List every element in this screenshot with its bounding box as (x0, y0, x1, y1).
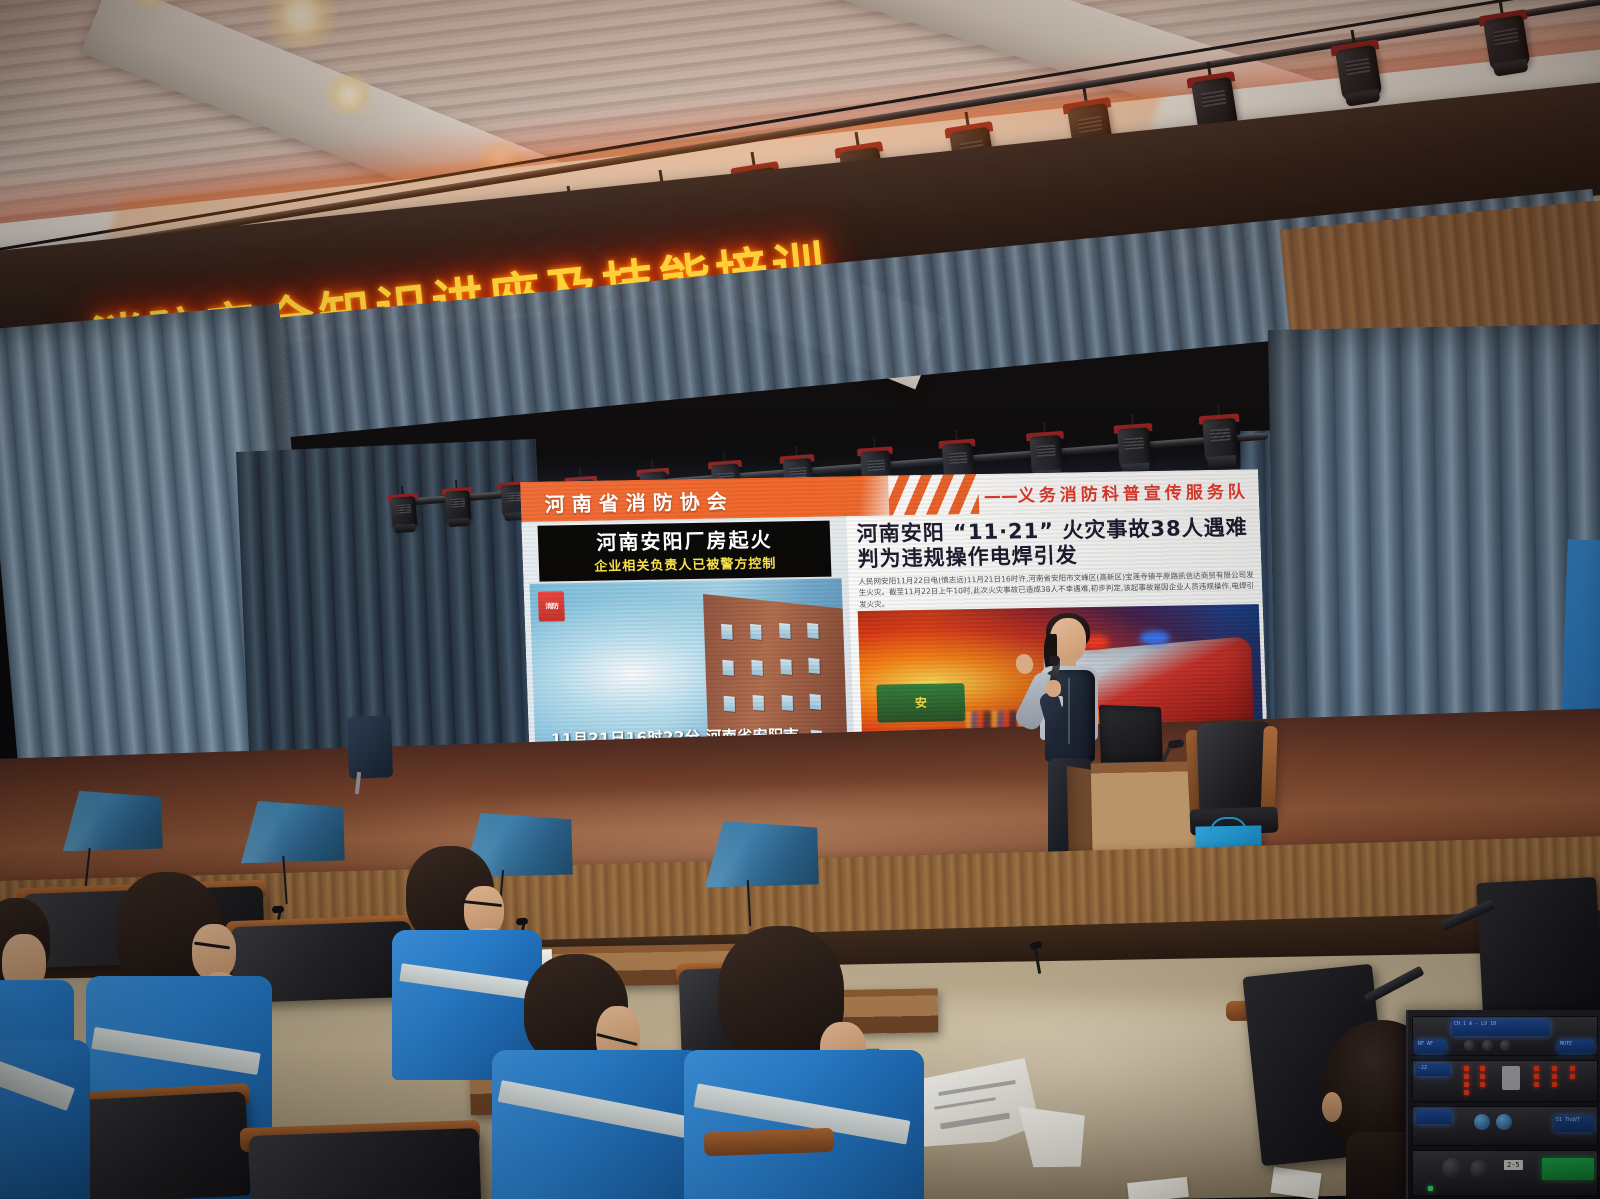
rack-led-c2 (1534, 1074, 1539, 1079)
rack-led-a3 (1464, 1082, 1469, 1087)
rack-lcd-left: RF AF (1416, 1040, 1446, 1053)
rack-battery-indicator-icon (1502, 1066, 1520, 1090)
rack-lcd-right-text: MUTE (1558, 1040, 1594, 1048)
rack-led-d2 (1552, 1074, 1557, 1079)
podium-laptop-screen (1099, 705, 1163, 767)
av-technician-ear (1322, 1092, 1342, 1122)
rack-led-a4 (1464, 1090, 1469, 1095)
presenter-mic-hand (1046, 680, 1061, 697)
rack-knob-large-2[interactable] (1470, 1160, 1488, 1178)
rack-led-e1 (1570, 1066, 1575, 1071)
rack-led-e2 (1570, 1074, 1575, 1079)
rack-lcd-bottom-left (1416, 1110, 1452, 1124)
rack-knob-1[interactable] (1464, 1040, 1475, 1051)
rack-led-power-ok (1428, 1186, 1433, 1191)
news-subheadline: 企业相关负责人已被警方控制 (594, 552, 777, 574)
rack-led-c1 (1534, 1066, 1539, 1071)
association-name: 河南省消防协会 (544, 485, 734, 517)
rack-lcd-right: MUTE (1558, 1040, 1594, 1053)
microphone-head-icon (1049, 655, 1060, 666)
audio-equipment-rack: CH 1 A - LV 10 RF AF MUTE -22 (1406, 1010, 1600, 1199)
rack-lcd-main: CH 1 A - LV 10 (1452, 1020, 1550, 1036)
rack-knob-large-1[interactable] (1442, 1158, 1462, 1178)
rack-lcd-left-text: RF AF (1416, 1040, 1446, 1048)
rack-lcd-bottom-right: 51 ThqVT (1554, 1116, 1594, 1132)
rack-led-b1 (1480, 1066, 1485, 1071)
subtitle-text: 义务消防科普宣传服务队 (1017, 482, 1249, 506)
rack-led-a2 (1464, 1074, 1469, 1079)
rack-led-a1 (1464, 1066, 1469, 1071)
emergency-beacon-blue (1139, 630, 1169, 645)
audience-chair-front-1 (69, 1091, 250, 1199)
rack-led-d3 (1552, 1082, 1557, 1087)
ceiling-downlight-2 (322, 72, 376, 116)
association-subtitle: ——义务消防科普宣传服务队 (983, 477, 1249, 507)
stage-side-chair (347, 715, 393, 778)
audience-chair-front-2 (249, 1128, 482, 1199)
rack-knob-2[interactable] (1482, 1040, 1493, 1051)
safety-badge: 安 (876, 683, 966, 723)
person-6-uniform (0, 1040, 90, 1199)
rack-knob-blue-1[interactable] (1474, 1114, 1490, 1130)
rack-led-c3 (1534, 1082, 1539, 1087)
rack-status-green-panel (1542, 1158, 1594, 1180)
rack-lcd-meter: -22 (1416, 1064, 1450, 1076)
rack-led-d1 (1552, 1066, 1557, 1071)
news-headline: 河南安阳厂房起火 (596, 528, 773, 553)
rack-led-b3 (1480, 1082, 1485, 1087)
subtitle-dash: —— (983, 486, 1018, 507)
rack-lcd-bottom-text: 51 ThqVT (1554, 1116, 1594, 1124)
rack-knob-blue-2[interactable] (1496, 1114, 1512, 1130)
rack-lcd-meter-text: -22 (1416, 1064, 1450, 1072)
rack-lcd-main-text: CH 1 A - LV 10 (1452, 1020, 1550, 1028)
rack-channel-tag: 2-5 (1504, 1160, 1523, 1170)
rack-led-b2 (1480, 1074, 1485, 1079)
table-microphone-head-icon-3 (272, 906, 284, 914)
auditorium-photo-scene: 2024-11-06 星期三 09:32 消防安全知识讲座及技能培训 (0, 0, 1600, 1199)
news-title-bar: 河南安阳厂房起火 企业相关负责人已被警方控制 (538, 521, 832, 582)
chair-frame-front-3 (704, 1128, 835, 1157)
broadcaster-watermark-icon: 消防 (538, 591, 565, 621)
rack-knob-3[interactable] (1500, 1040, 1511, 1051)
